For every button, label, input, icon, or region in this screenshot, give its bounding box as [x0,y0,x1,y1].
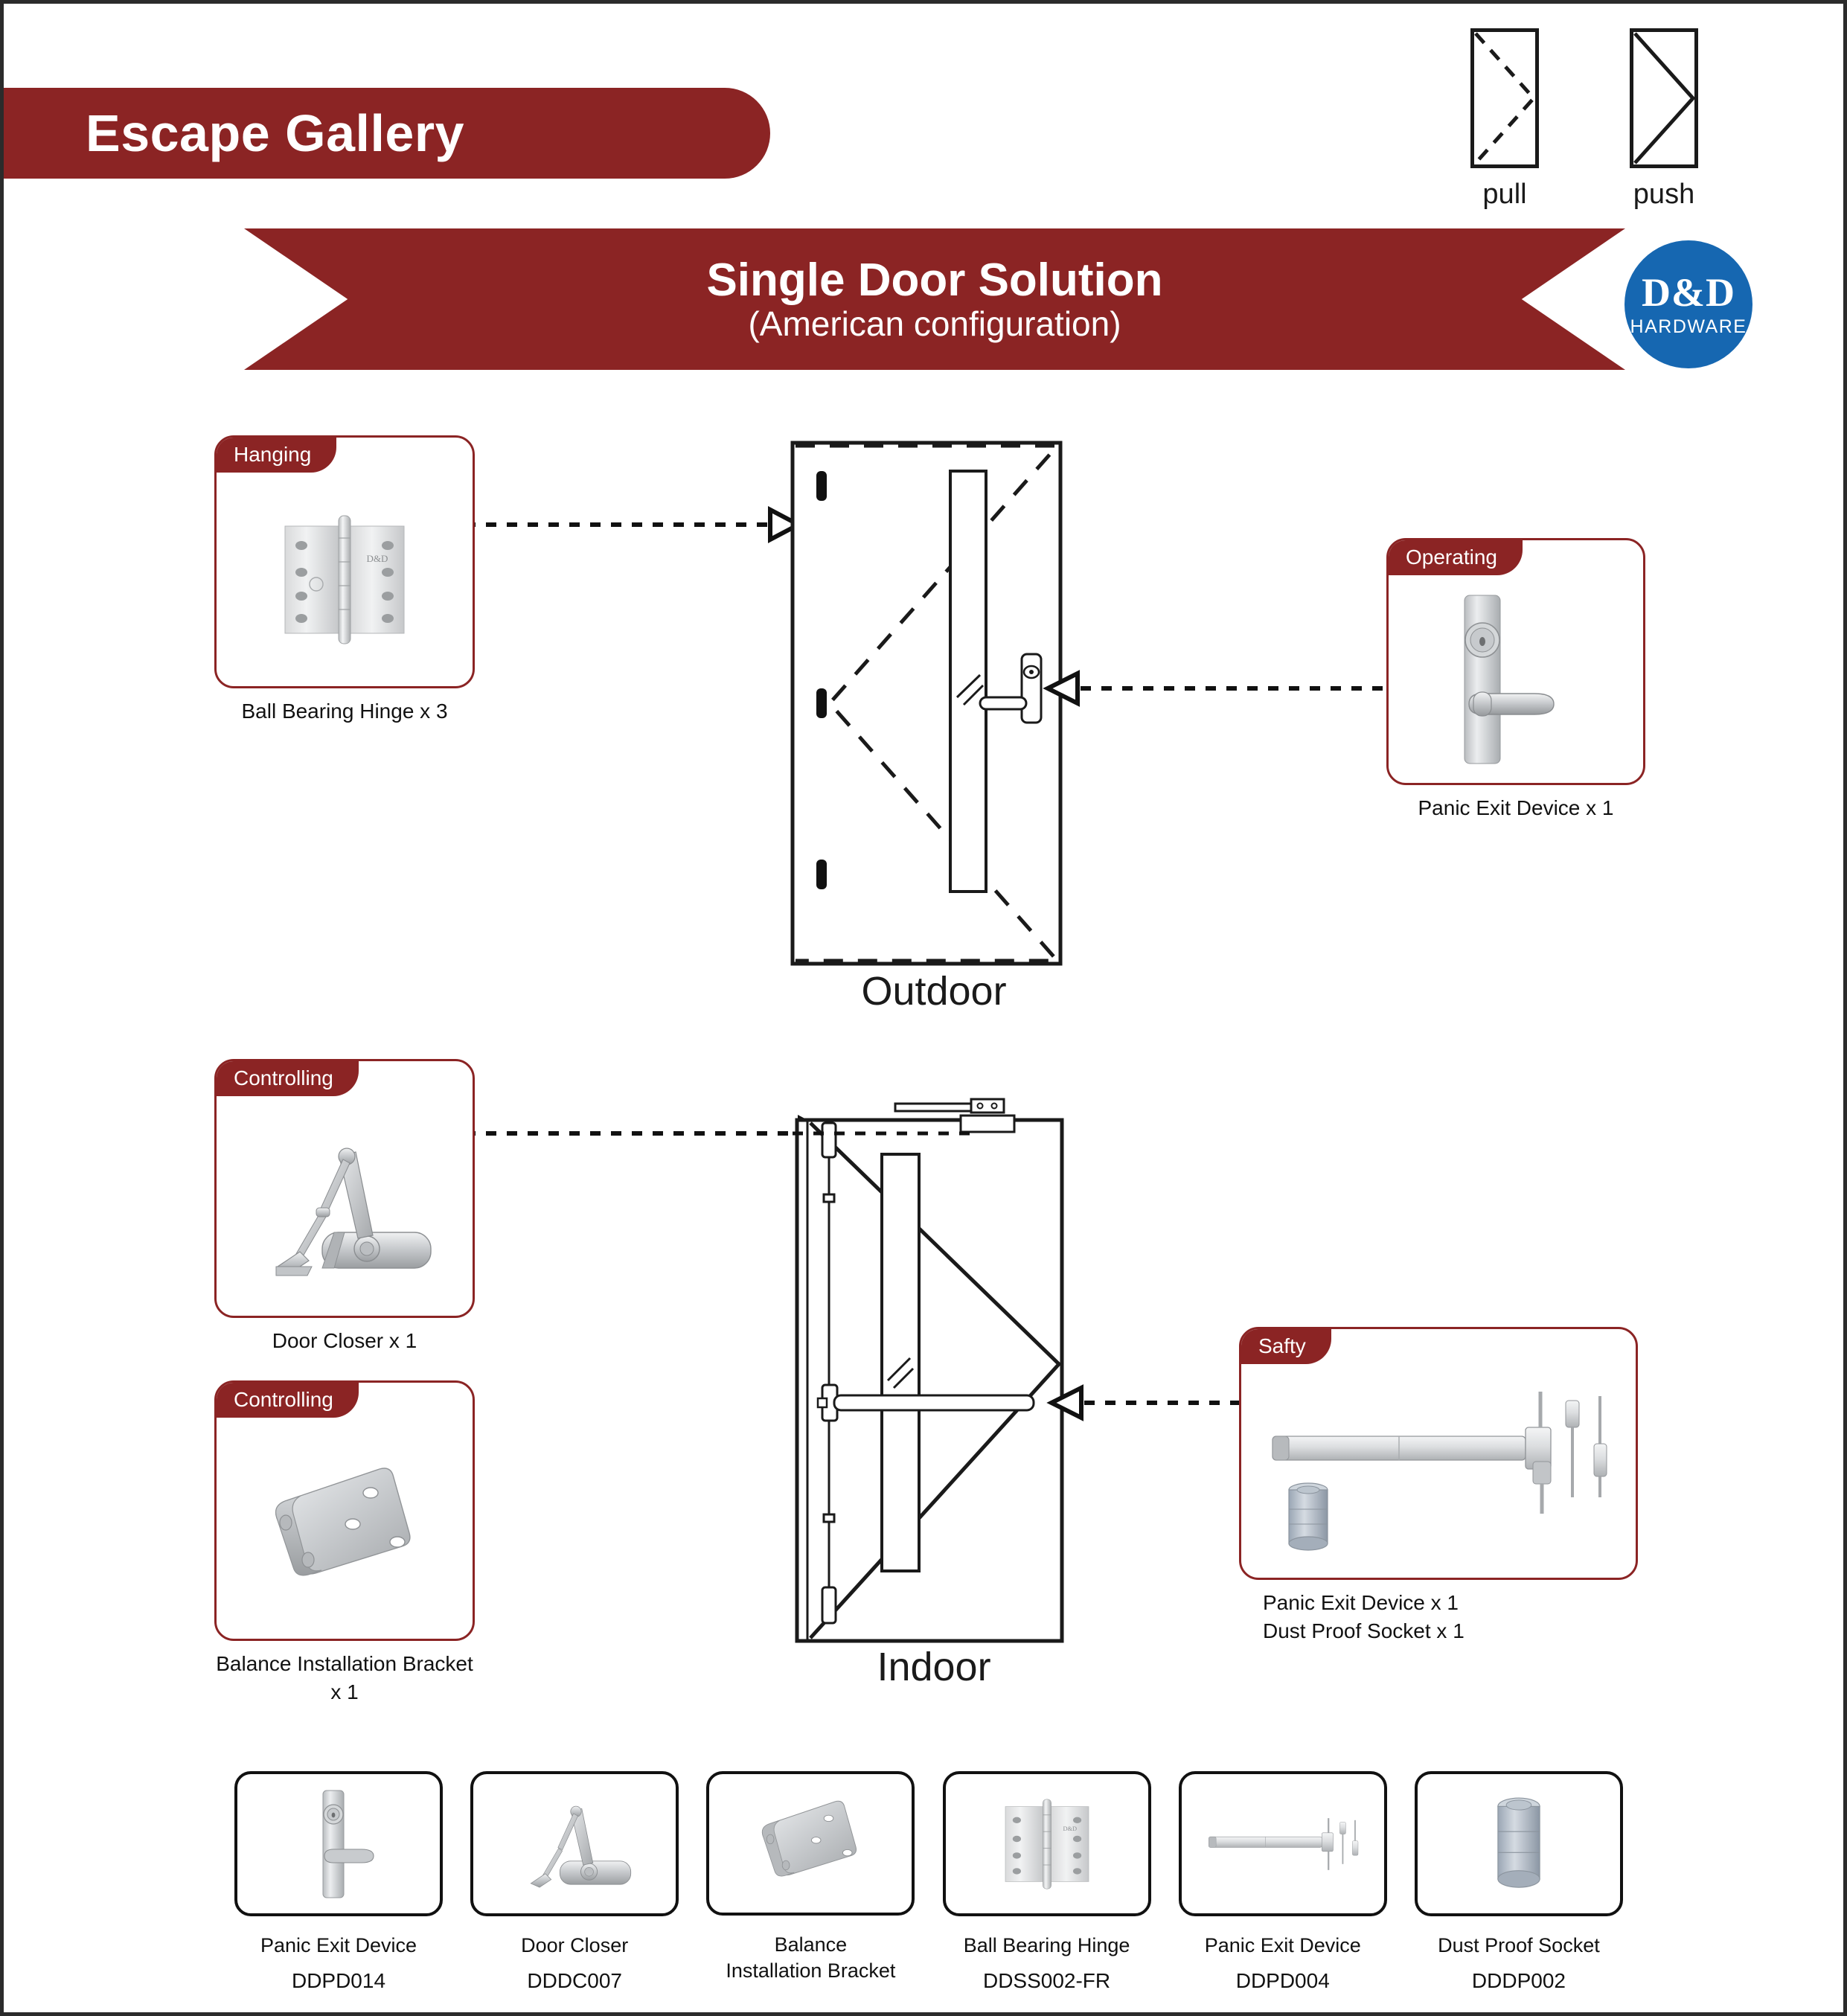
card-safty-box: Safty [1239,1327,1638,1580]
push-symbol: push [1630,28,1698,211]
card-controlling-bracket-tab-label: Controlling [234,1388,333,1412]
product-name: Panic Exit Device [260,1933,417,1959]
svg-text:D&D: D&D [1063,1825,1077,1831]
connector-operating [1042,659,1392,718]
panic-bar-icon [1205,1803,1361,1885]
poster-page: Escape Gallery pull push Single Door Sol… [0,0,1847,2016]
svg-text:D&D: D&D [367,553,388,564]
product-door-closer-dddc007[interactable]: Door Closer DDDC007 [470,1771,679,1994]
card-controlling-closer-box: Controlling [214,1059,475,1318]
gallery-title-text: Escape Gallery [86,103,464,163]
balance-bracket-icon [217,1418,473,1639]
product-code: DDPD004 [1236,1969,1330,1993]
product-panic-exit-device-ddpd004[interactable]: Panic Exit Device DDPD004 [1179,1771,1387,1994]
product-image-box: D&D [943,1771,1151,1916]
pull-symbol-caption: pull [1470,179,1539,211]
product-balance-installation-bracket[interactable]: Balance Installation Bracket [706,1771,915,1994]
card-safty-tab: Safty [1241,1328,1331,1364]
product-image-box [706,1771,915,1916]
push-swing-lines [1633,32,1694,164]
card-operating-tab: Operating [1388,540,1523,575]
card-hanging-box: Hanging [214,435,475,688]
product-image-box [470,1771,679,1916]
push-symbol-caption: push [1630,179,1698,211]
card-hanging[interactable]: Hanging [214,435,475,726]
card-controlling-closer[interactable]: Controlling [214,1059,475,1355]
card-hanging-caption: Ball Bearing Hinge x 3 [214,697,475,726]
card-operating-caption: Panic Exit Device x 1 [1386,794,1645,822]
product-image-box [234,1771,443,1916]
product-name: Door Closer [521,1933,628,1959]
card-safty-caption-line2: Dust Proof Socket x 1 [1263,1617,1638,1645]
product-image-box [1179,1771,1387,1916]
product-strip: Panic Exit Device DDPD014 [234,1771,1623,1994]
indoor-label: Indoor [785,1644,1083,1690]
main-title: Single Door Solution [706,257,1162,304]
product-ball-bearing-hinge-ddss002-fr[interactable]: D&D Ball Bearing Hinge DDSS002-FR [943,1771,1151,1994]
card-safty-tab-label: Safty [1258,1334,1306,1358]
brand-logo-sub: HARDWARE [1630,318,1747,336]
indoor-door-diagram: Indoor [785,1090,1083,1686]
card-controlling-closer-tab: Controlling [216,1060,359,1096]
product-name: Dust Proof Socket [1438,1933,1600,1959]
product-image-box [1415,1771,1623,1916]
product-code: DDSS002-FR [983,1969,1110,1993]
product-code: DDDP002 [1472,1969,1566,1993]
product-panic-exit-device-ddpd014[interactable]: Panic Exit Device DDPD014 [234,1771,443,1994]
lever-handle-escutcheon-icon [1389,576,1643,783]
card-controlling-closer-caption: Door Closer x 1 [214,1327,475,1355]
push-symbol-box [1630,28,1698,168]
product-name-line2: Installation Bracket [726,1958,895,1984]
card-hanging-tab-label: Hanging [234,443,311,467]
card-controlling-bracket-caption: Balance Installation Bracket x 1 [214,1650,475,1706]
product-name: Balance Installation Bracket [726,1932,895,1984]
product-name: Panic Exit Device [1205,1933,1361,1959]
card-operating-box: Operating [1386,538,1645,785]
connector-controlling-closer [465,1104,837,1163]
card-safty-caption-line1: Panic Exit Device x 1 [1263,1589,1638,1617]
connector-hanging [465,495,807,554]
main-subtitle: (American configuration) [748,306,1121,342]
card-controlling-bracket-box: Controlling [214,1380,475,1641]
product-name: Ball Bearing Hinge [964,1933,1130,1959]
pull-symbol: pull [1470,28,1539,211]
product-dust-proof-socket-dddp002[interactable]: Dust Proof Socket DDDP002 [1415,1771,1623,1994]
pull-symbol-box [1470,28,1539,168]
gallery-title-banner: Escape Gallery [4,88,770,179]
ball-bearing-hinge-icon: D&D [217,473,473,686]
card-controlling-closer-tab-label: Controlling [234,1066,333,1090]
panic-bar-and-socket-icon [1241,1365,1636,1578]
door-closer-icon [217,1097,473,1316]
brand-logo: D&D HARDWARE [1624,240,1752,368]
door-closer-icon [508,1788,641,1900]
dust-proof-socket-icon [1483,1788,1555,1900]
product-code: DDPD014 [292,1969,385,1993]
product-name-line1: Balance [726,1932,895,1958]
main-title-ribbon: Single Door Solution (American configura… [244,228,1625,370]
outdoor-label: Outdoor [785,968,1083,1014]
card-controlling-bracket[interactable]: Controlling [214,1380,475,1706]
card-controlling-bracket-tab: Controlling [216,1382,359,1418]
card-operating[interactable]: Operating [1386,538,1645,822]
lever-handle-escutcheon-icon [298,1785,380,1904]
pull-swing-lines [1474,32,1535,164]
card-operating-tab-label: Operating [1406,545,1497,569]
ball-bearing-hinge-icon: D&D [995,1788,1099,1900]
balance-bracket-icon [743,1791,877,1895]
brand-logo-main: D&D [1642,272,1735,313]
card-safty-caption: Panic Exit Device x 1 Dust Proof Socket … [1239,1589,1638,1645]
product-code: DDDC007 [527,1969,622,1993]
card-safty[interactable]: Safty [1239,1327,1638,1645]
card-hanging-tab: Hanging [216,437,336,473]
outdoor-door-diagram: Outdoor [785,435,1083,1016]
